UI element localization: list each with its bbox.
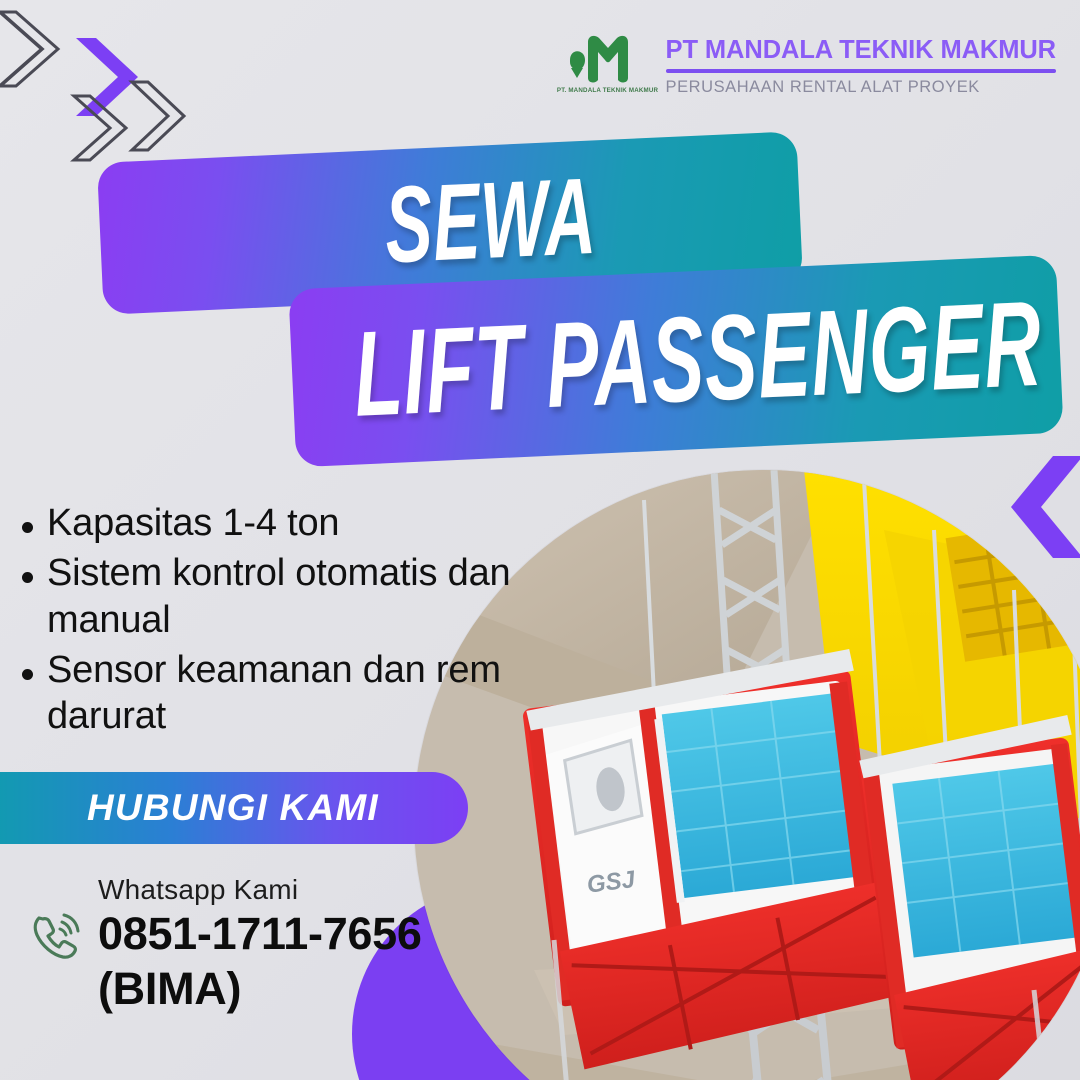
company-tagline: PERUSAHAAN RENTAL ALAT PROYEK (666, 78, 980, 97)
chevron-right-outline-icon-3 (128, 78, 186, 154)
contact-person-name: (BIMA) (98, 962, 422, 1017)
feature-list: Kapasitas 1-4 ton Sistem kontrol otomati… (22, 500, 582, 744)
brand-header: PT. MANDALA TEKNIK MAKMUR PT MANDALA TEK… (564, 34, 1056, 100)
cta-label: HUBUNGI KAMI (87, 787, 379, 829)
bullet-icon (22, 669, 33, 680)
chevron-left-solid-icon (995, 452, 1080, 562)
list-item: Sistem kontrol otomatis dan manual (22, 550, 582, 643)
company-name: PT MANDALA TEKNIK MAKMUR (666, 37, 1056, 64)
bullet-icon (22, 572, 33, 583)
mandala-m-logo-icon (564, 34, 652, 86)
contact-cta-band[interactable]: HUBUNGI KAMI (0, 772, 468, 844)
feature-label: Sensor keamanan dan rem darurat (47, 647, 582, 740)
list-item: Kapasitas 1-4 ton (22, 500, 582, 546)
headline-banner-secondary: LIFT PASSENGER (288, 255, 1063, 468)
chevron-right-outline-icon-2 (70, 92, 128, 164)
poster-canvas: PT. MANDALA TEKNIK MAKMUR PT MANDALA TEK… (0, 0, 1080, 1080)
feature-label: Sistem kontrol otomatis dan manual (47, 550, 582, 643)
brand-text-block: PT MANDALA TEKNIK MAKMUR PERUSAHAAN RENT… (666, 37, 1056, 96)
headline-line-1: SEWA (382, 154, 598, 288)
bullet-icon (22, 522, 33, 533)
feature-label: Kapasitas 1-4 ton (47, 500, 339, 546)
logo-caption: PT. MANDALA TEKNIK MAKMUR (557, 87, 658, 94)
phone-call-icon (26, 908, 84, 971)
headline-line-2: LIFT PASSENGER (351, 275, 1045, 445)
chevron-right-outline-icon-1 (0, 6, 60, 92)
company-logo: PT. MANDALA TEKNIK MAKMUR (564, 34, 652, 100)
contact-text-block: Whatsapp Kami 0851-1711-7656 (BIMA) (98, 872, 422, 1017)
whatsapp-label: Whatsapp Kami (98, 872, 422, 907)
header-divider (666, 69, 1056, 73)
whatsapp-number[interactable]: 0851-1711-7656 (98, 907, 422, 962)
whatsapp-contact-block[interactable]: Whatsapp Kami 0851-1711-7656 (BIMA) (26, 872, 422, 1017)
list-item: Sensor keamanan dan rem darurat (22, 647, 582, 740)
